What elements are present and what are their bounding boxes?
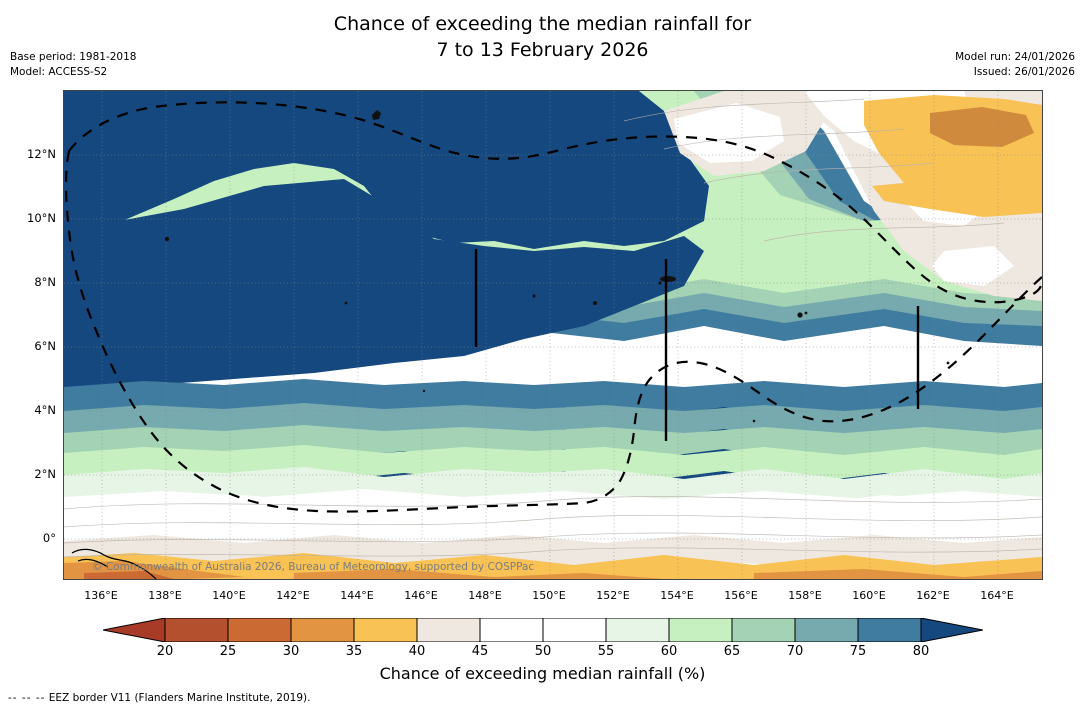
y-tick-8N: 8°N [4, 275, 56, 289]
x-tick-152E: 152°E [596, 589, 629, 602]
colorbar-seg-60-65 [669, 618, 732, 642]
cb-tick-40: 40 [409, 644, 426, 659]
x-tick-162E: 162°E [916, 589, 949, 602]
colorbar-seg-20-25 [165, 618, 228, 642]
y-tick-10N: 10°N [4, 211, 56, 225]
colorbar-seg-45-50 [480, 618, 543, 642]
colorbar[interactable] [103, 618, 983, 642]
x-tick-154E: 154°E [660, 589, 693, 602]
y-tick-4N: 4°N [4, 403, 56, 417]
x-tick-150E: 150°E [532, 589, 565, 602]
colorbar-seg-55-60 [606, 618, 669, 642]
colorbar-over-arrow [921, 618, 983, 642]
colorbar-seg-65-70 [732, 618, 795, 642]
x-tick-158E: 158°E [788, 589, 821, 602]
cb-tick-50: 50 [535, 644, 552, 659]
x-tick-142E: 142°E [276, 589, 309, 602]
cb-tick-55: 55 [598, 644, 615, 659]
cb-tick-30: 30 [283, 644, 300, 659]
cb-tick-75: 75 [850, 644, 867, 659]
colorbar-label: Chance of exceeding median rainfall (%) [0, 664, 1085, 683]
x-tick-140E: 140°E [212, 589, 245, 602]
colorbar-swatches [103, 618, 983, 642]
y-tick-2N: 2°N [4, 467, 56, 481]
cb-tick-80: 80 [913, 644, 930, 659]
colorbar-seg-50-55 [543, 618, 606, 642]
cb-tick-45: 45 [472, 644, 489, 659]
cb-tick-20: 20 [157, 644, 174, 659]
x-tick-160E: 160°E [852, 589, 885, 602]
x-tick-156E: 156°E [724, 589, 757, 602]
x-tick-144E: 144°E [340, 589, 373, 602]
y-tick-0: 0° [4, 531, 56, 545]
eez-legend-dashes: -- -- -- [8, 692, 45, 704]
forecast-map-page: Chance of exceeding the median rainfall … [0, 0, 1085, 713]
x-tick-136E: 136°E [84, 589, 117, 602]
eez-legend-text: EEZ border V11 (Flanders Marine Institut… [49, 692, 311, 704]
y-tick-12N: 12°N [4, 147, 56, 161]
cb-tick-65: 65 [724, 644, 741, 659]
y-tick-6N: 6°N [4, 339, 56, 353]
x-tick-164E: 164°E [980, 589, 1013, 602]
x-tick-138E: 138°E [148, 589, 181, 602]
cb-tick-70: 70 [787, 644, 804, 659]
cb-tick-60: 60 [661, 644, 678, 659]
colorbar-seg-35-40 [354, 618, 417, 642]
y-axis-labels: 12°N 10°N 8°N 6°N 4°N 2°N 0° [0, 0, 1085, 713]
colorbar-seg-75-80 [858, 618, 921, 642]
colorbar-seg-25-30 [228, 618, 291, 642]
colorbar-seg-40-45 [417, 618, 480, 642]
cb-tick-25: 25 [220, 644, 237, 659]
colorbar-seg-30-35 [291, 618, 354, 642]
cb-tick-35: 35 [346, 644, 363, 659]
eez-legend: -- -- -- EEZ border V11 (Flanders Marine… [8, 692, 310, 704]
x-tick-146E: 146°E [404, 589, 437, 602]
colorbar-seg-70-75 [795, 618, 858, 642]
colorbar-under-arrow [103, 618, 165, 642]
x-tick-148E: 148°E [468, 589, 501, 602]
